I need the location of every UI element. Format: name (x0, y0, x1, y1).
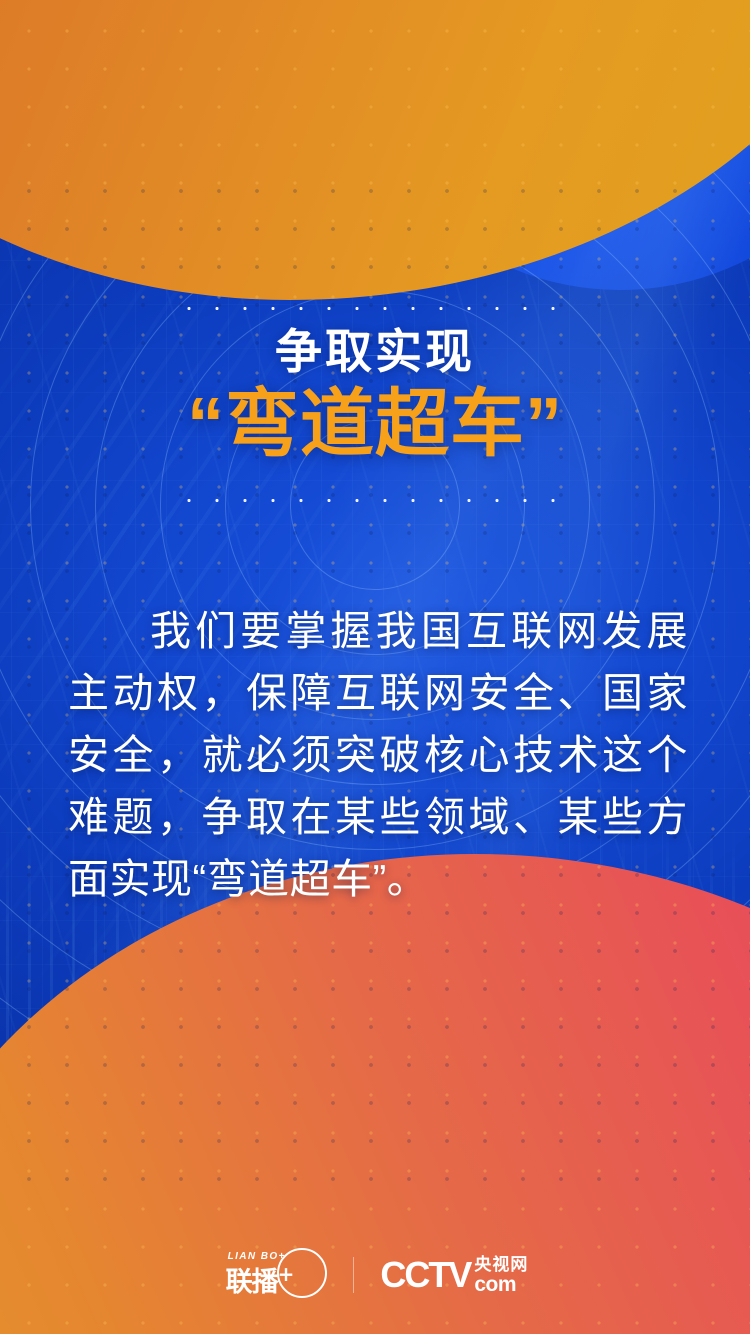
poster-canvas: 争取实现 “弯道超车” 我们要掌握我国互联网发展主动权，保障互联网安全、国家安全… (0, 0, 750, 1334)
dotted-rule-top (175, 306, 575, 311)
lianbo-pinyin: LIAN BO+ (226, 1252, 286, 1262)
quote-paragraph: 我们要掌握我国互联网发展主动权，保障互联网安全、国家安全，就必须突破核心技术这个… (68, 600, 688, 910)
cctv-domain-suffix: com (474, 1274, 528, 1295)
headline-block: 争取实现 “弯道超车” (0, 326, 750, 464)
footer-logo-bar: LIAN BO+ 联播+ CCTV 央视网 com (0, 1250, 750, 1300)
lianbo-logo[interactable]: LIAN BO+ 联播+ (222, 1250, 328, 1300)
headline-line-1: 争取实现 (0, 326, 750, 378)
dotted-rule-bottom (175, 498, 575, 503)
lianbo-wordmark-text: 联播 (226, 1267, 278, 1298)
lianbo-ring-icon (277, 1248, 327, 1298)
headline-line-2: “弯道超车” (0, 384, 750, 464)
poster-content: 争取实现 “弯道超车” 我们要掌握我国互联网发展主动权，保障互联网安全、国家安全… (0, 0, 750, 1334)
cctv-logo[interactable]: CCTV 央视网 com (380, 1256, 528, 1295)
cctv-wordmark: CCTV (380, 1257, 470, 1293)
logo-divider (353, 1257, 354, 1293)
cctv-logo-right: 央视网 com (474, 1256, 528, 1295)
cctv-chinese-name: 央视网 (474, 1256, 528, 1273)
